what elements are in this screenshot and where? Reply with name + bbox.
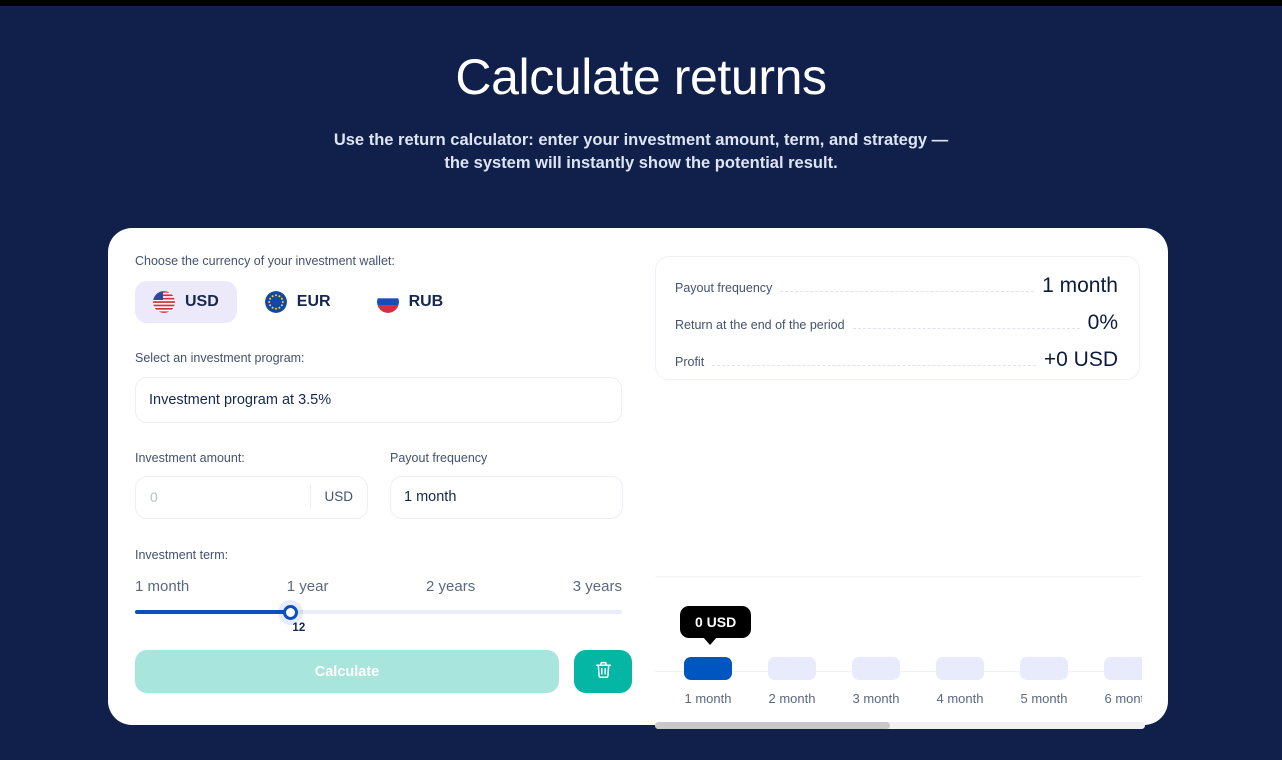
- form-actions: Calculate: [135, 650, 635, 693]
- page-header: Calculate returns Use the return calcula…: [0, 6, 1282, 176]
- term-tick-labels: 1 month 1 year 2 years 3 years: [135, 578, 622, 595]
- term-slider[interactable]: 12: [135, 606, 622, 618]
- chart-scrollbar-thumb[interactable]: [655, 722, 890, 729]
- chart-bar-label: 3 month: [852, 691, 900, 706]
- chart-bar-group[interactable]: 3 month: [852, 657, 900, 706]
- currency-selector: USD: [135, 281, 635, 323]
- flag-rub-icon: [377, 291, 399, 313]
- summary-leader: [853, 328, 1080, 329]
- summary-value: 0%: [1088, 311, 1118, 335]
- amount-currency-suffix: USD: [310, 485, 367, 509]
- chart-tooltip: 0 USD: [680, 606, 751, 638]
- results-panel: Payout frequency 1 month Return at the e…: [655, 256, 1142, 706]
- summary-panel: Payout frequency 1 month Return at the e…: [655, 256, 1140, 380]
- term-tick-2: 2 years: [426, 578, 475, 595]
- chart-bar-label: 5 month: [1020, 691, 1068, 706]
- payout-chart: 1 month2 month3 month4 month5 month6 mon…: [655, 596, 1142, 706]
- currency-label: Choose the currency of your investment w…: [135, 253, 635, 269]
- calculator-card: Choose the currency of your investment w…: [108, 228, 1168, 725]
- chart-bar[interactable]: [684, 657, 732, 680]
- chart-bar-group[interactable]: 5 month: [1020, 657, 1068, 706]
- term-label: Investment term:: [135, 547, 635, 563]
- program-block: Select an investment program: Investment…: [135, 350, 635, 422]
- page-title: Calculate returns: [0, 50, 1282, 105]
- chart-bar[interactable]: [852, 657, 900, 680]
- calculator-form: Choose the currency of your investment w…: [135, 253, 635, 693]
- chart-bar-group[interactable]: 2 month: [768, 657, 816, 706]
- chart-bar[interactable]: [1104, 657, 1142, 680]
- payout-block: Payout frequency 1 month: [390, 450, 623, 519]
- program-select-value: Investment program at 3.5%: [136, 392, 331, 408]
- summary-value: +0 USD: [1044, 348, 1118, 372]
- term-slider-value: 12: [292, 622, 305, 634]
- currency-option-rub[interactable]: RUB: [359, 281, 462, 323]
- summary-row: Profit +0 USD: [675, 348, 1118, 385]
- summary-leader: [780, 291, 1034, 292]
- chart-bar-group[interactable]: 4 month: [936, 657, 984, 706]
- flag-eur-icon: [265, 291, 287, 313]
- payout-select[interactable]: 1 month: [390, 476, 623, 519]
- payout-label: Payout frequency: [390, 450, 623, 466]
- currency-option-rub-label: RUB: [409, 293, 444, 311]
- trash-icon: [594, 660, 613, 683]
- currency-option-eur-label: EUR: [297, 293, 331, 311]
- flag-usd-icon: [153, 291, 175, 313]
- summary-row: Return at the end of the period 0%: [675, 311, 1118, 348]
- payout-select-value: 1 month: [391, 489, 456, 505]
- chart-bar-label: 4 month: [936, 691, 984, 706]
- chart-bar[interactable]: [936, 657, 984, 680]
- page-subtitle-line-2: the system will instantly show the poten…: [0, 152, 1282, 175]
- amount-payout-row: Investment amount: USD Payout frequency …: [135, 450, 635, 519]
- term-block: Investment term: 1 month 1 year 2 years …: [135, 547, 635, 618]
- chart-bar-group[interactable]: 1 month: [684, 657, 732, 706]
- program-select[interactable]: Investment program at 3.5%: [135, 377, 622, 423]
- chart-bar-label: 6 month: [1104, 691, 1142, 706]
- summary-value: 1 month: [1042, 274, 1118, 298]
- panel-divider: [655, 576, 1142, 577]
- summary-row: Payout frequency 1 month: [675, 274, 1118, 311]
- chart-bar-group[interactable]: 6 month: [1104, 657, 1142, 706]
- chart-bar-label: 2 month: [768, 691, 816, 706]
- term-slider-fill: [135, 610, 291, 614]
- page-subtitle-line-1: Use the return calculator: enter your in…: [0, 129, 1282, 152]
- summary-leader: [712, 365, 1036, 366]
- summary-label: Return at the end of the period: [675, 318, 845, 332]
- chart-bar[interactable]: [768, 657, 816, 680]
- chart-bar-label: 1 month: [684, 691, 732, 706]
- term-tick-0: 1 month: [135, 578, 189, 595]
- amount-input[interactable]: [136, 489, 296, 505]
- summary-label: Profit: [675, 355, 704, 369]
- term-tick-3: 3 years: [573, 578, 622, 595]
- term-tick-1: 1 year: [287, 578, 329, 595]
- chart-bar[interactable]: [1020, 657, 1068, 680]
- summary-label: Payout frequency: [675, 281, 772, 295]
- chart-scrollbar[interactable]: [655, 722, 1145, 729]
- clear-button[interactable]: [574, 650, 632, 693]
- page-subtitle: Use the return calculator: enter your in…: [0, 129, 1282, 176]
- amount-block: Investment amount: USD: [135, 450, 368, 519]
- amount-field[interactable]: USD: [135, 476, 368, 519]
- program-label: Select an investment program:: [135, 350, 635, 366]
- currency-option-usd[interactable]: USD: [135, 281, 237, 323]
- currency-option-eur[interactable]: EUR: [247, 281, 349, 323]
- term-slider-thumb[interactable]: [283, 605, 298, 620]
- currency-option-usd-label: USD: [185, 293, 219, 311]
- amount-label: Investment amount:: [135, 450, 368, 466]
- calculate-button[interactable]: Calculate: [135, 650, 559, 693]
